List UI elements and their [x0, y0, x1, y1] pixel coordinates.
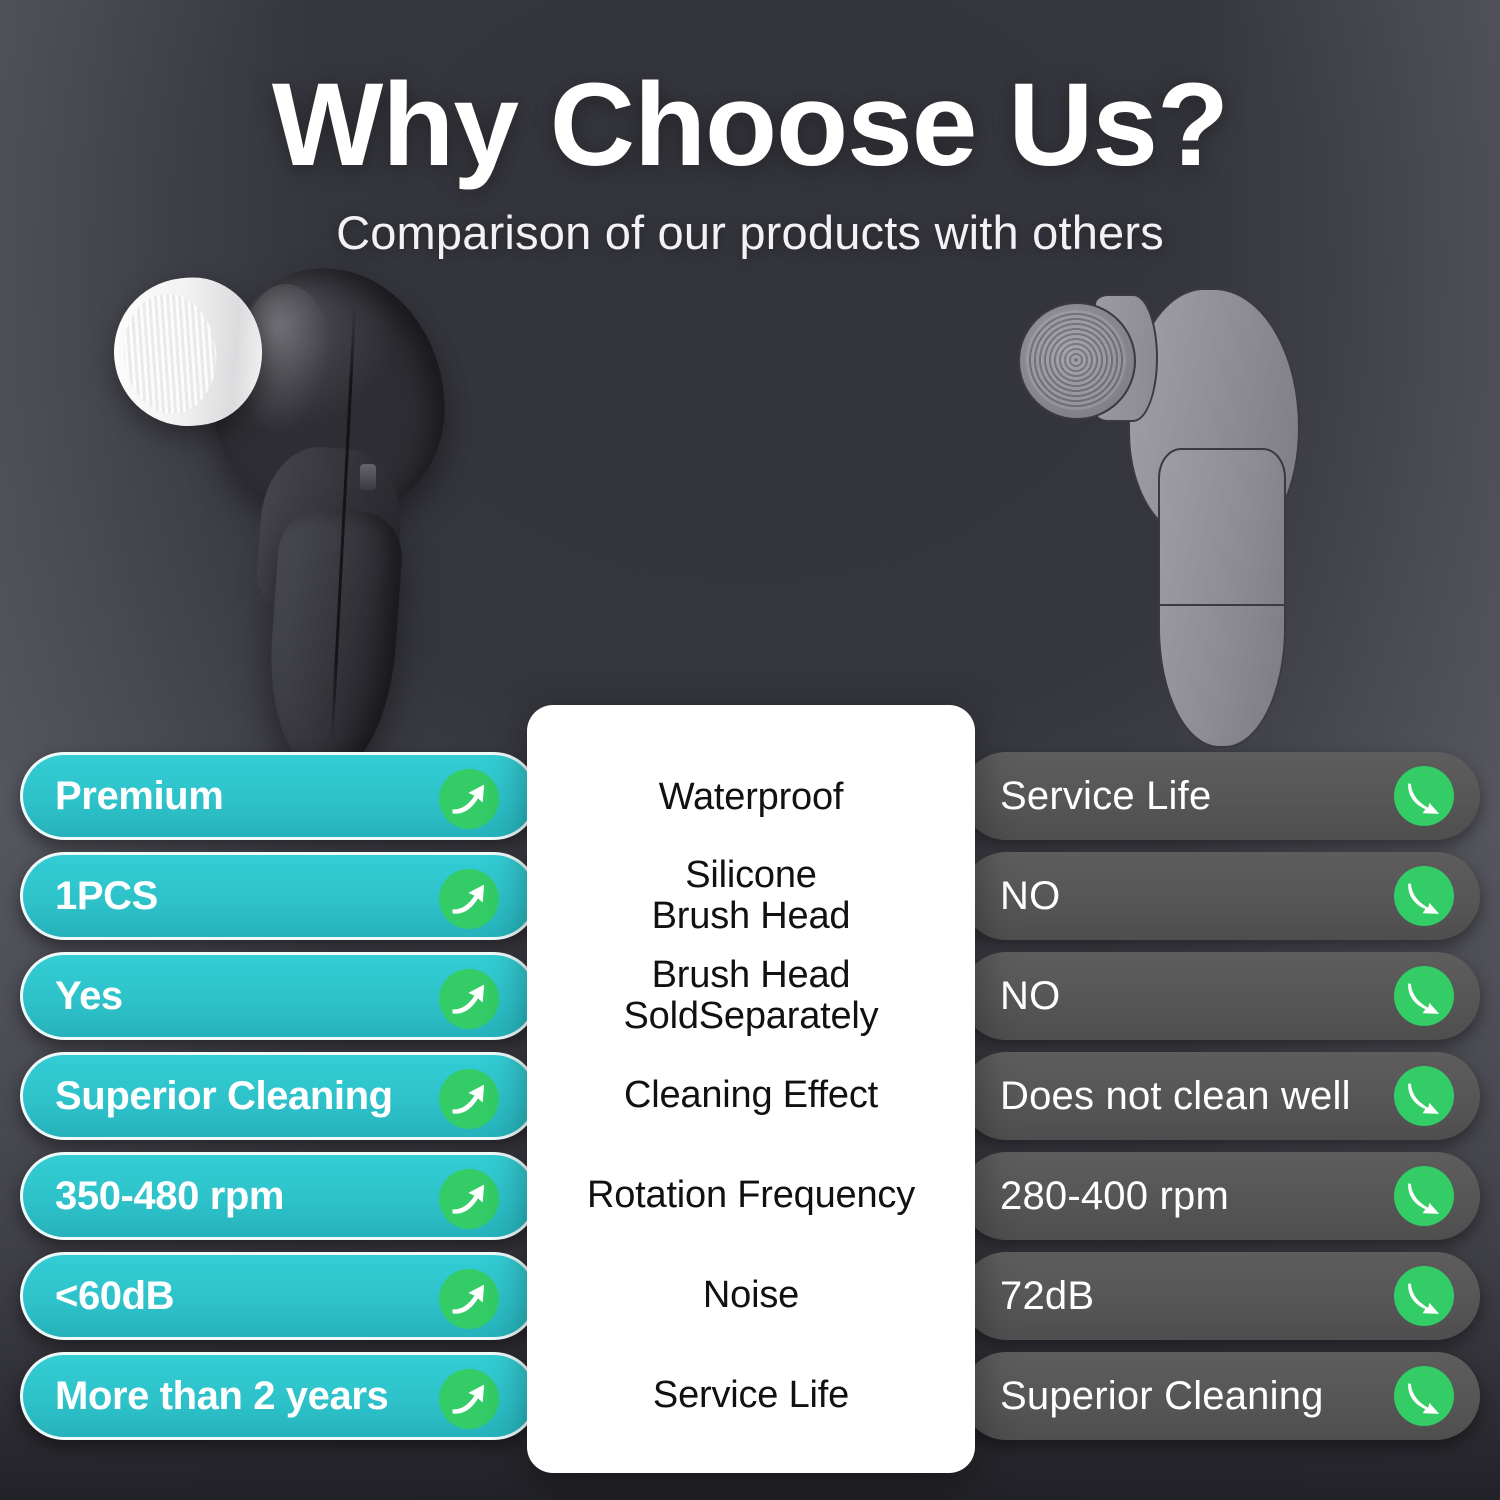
ours-pill[interactable]: More than 2 years	[20, 1352, 538, 1440]
arrow-down-curve-icon	[1394, 1166, 1454, 1226]
theirs-pill[interactable]: NO	[962, 952, 1480, 1040]
arrow-down-curve-icon	[1394, 966, 1454, 1026]
theirs-pill[interactable]: 72dB	[962, 1252, 1480, 1340]
feature-label: Rotation Frequency	[527, 1175, 975, 1216]
arrow-up-curve-icon	[439, 1369, 499, 1429]
theirs-value: Does not clean well	[1000, 1074, 1351, 1119]
arrow-down-curve-icon	[1394, 1066, 1454, 1126]
header: Why Choose Us? Comparison of our product…	[0, 62, 1500, 260]
feature-label: Service Life	[527, 1375, 975, 1416]
theirs-value: Superior Cleaning	[1000, 1374, 1324, 1419]
feature-label-panel: Waterproof SiliconeBrush Head Brush Head…	[527, 705, 975, 1473]
arrow-down-curve-icon	[1394, 766, 1454, 826]
ours-pill[interactable]: Superior Cleaning	[20, 1052, 538, 1140]
ours-pill[interactable]: Premium	[20, 752, 538, 840]
arrow-up-curve-icon	[439, 969, 499, 1029]
arrow-up-curve-icon	[439, 1069, 499, 1129]
ours-pill[interactable]: 1PCS	[20, 852, 538, 940]
ours-value: 350-480 rpm	[55, 1174, 284, 1219]
feature-label: Noise	[527, 1275, 975, 1316]
theirs-value: 280-400 rpm	[1000, 1174, 1229, 1219]
arrow-up-curve-icon	[439, 769, 499, 829]
ours-value: Premium	[55, 774, 223, 819]
ours-pill[interactable]: <60dB	[20, 1252, 538, 1340]
ours-value: Superior Cleaning	[55, 1074, 393, 1119]
arrow-down-curve-icon	[1394, 1366, 1454, 1426]
theirs-pill[interactable]: NO	[962, 852, 1480, 940]
arrow-up-curve-icon	[439, 869, 499, 929]
theirs-value: NO	[1000, 974, 1060, 1019]
feature-label: Cleaning Effect	[527, 1075, 975, 1116]
page-subtitle: Comparison of our products with others	[0, 205, 1500, 260]
feature-label: SiliconeBrush Head	[527, 855, 975, 937]
page-title: Why Choose Us?	[0, 62, 1500, 189]
theirs-pill[interactable]: Superior Cleaning	[962, 1352, 1480, 1440]
theirs-value: NO	[1000, 874, 1060, 919]
ours-value: More than 2 years	[55, 1374, 388, 1419]
arrow-down-curve-icon	[1394, 866, 1454, 926]
theirs-value: 72dB	[1000, 1274, 1094, 1319]
ours-value: Yes	[55, 974, 123, 1019]
arrow-up-curve-icon	[439, 1269, 499, 1329]
ours-value: <60dB	[55, 1274, 174, 1319]
ours-pill[interactable]: Yes	[20, 952, 538, 1040]
ours-pill[interactable]: 350-480 rpm	[20, 1152, 538, 1240]
feature-label: Brush HeadSoldSeparately	[527, 955, 975, 1037]
arrow-down-curve-icon	[1394, 1266, 1454, 1326]
arrow-up-curve-icon	[439, 1169, 499, 1229]
ours-value: 1PCS	[55, 874, 158, 919]
feature-label: Waterproof	[527, 777, 975, 818]
theirs-pill[interactable]: Service Life	[962, 752, 1480, 840]
theirs-value: Service Life	[1000, 774, 1211, 819]
theirs-pill[interactable]: Does not clean well	[962, 1052, 1480, 1140]
theirs-pill[interactable]: 280-400 rpm	[962, 1152, 1480, 1240]
